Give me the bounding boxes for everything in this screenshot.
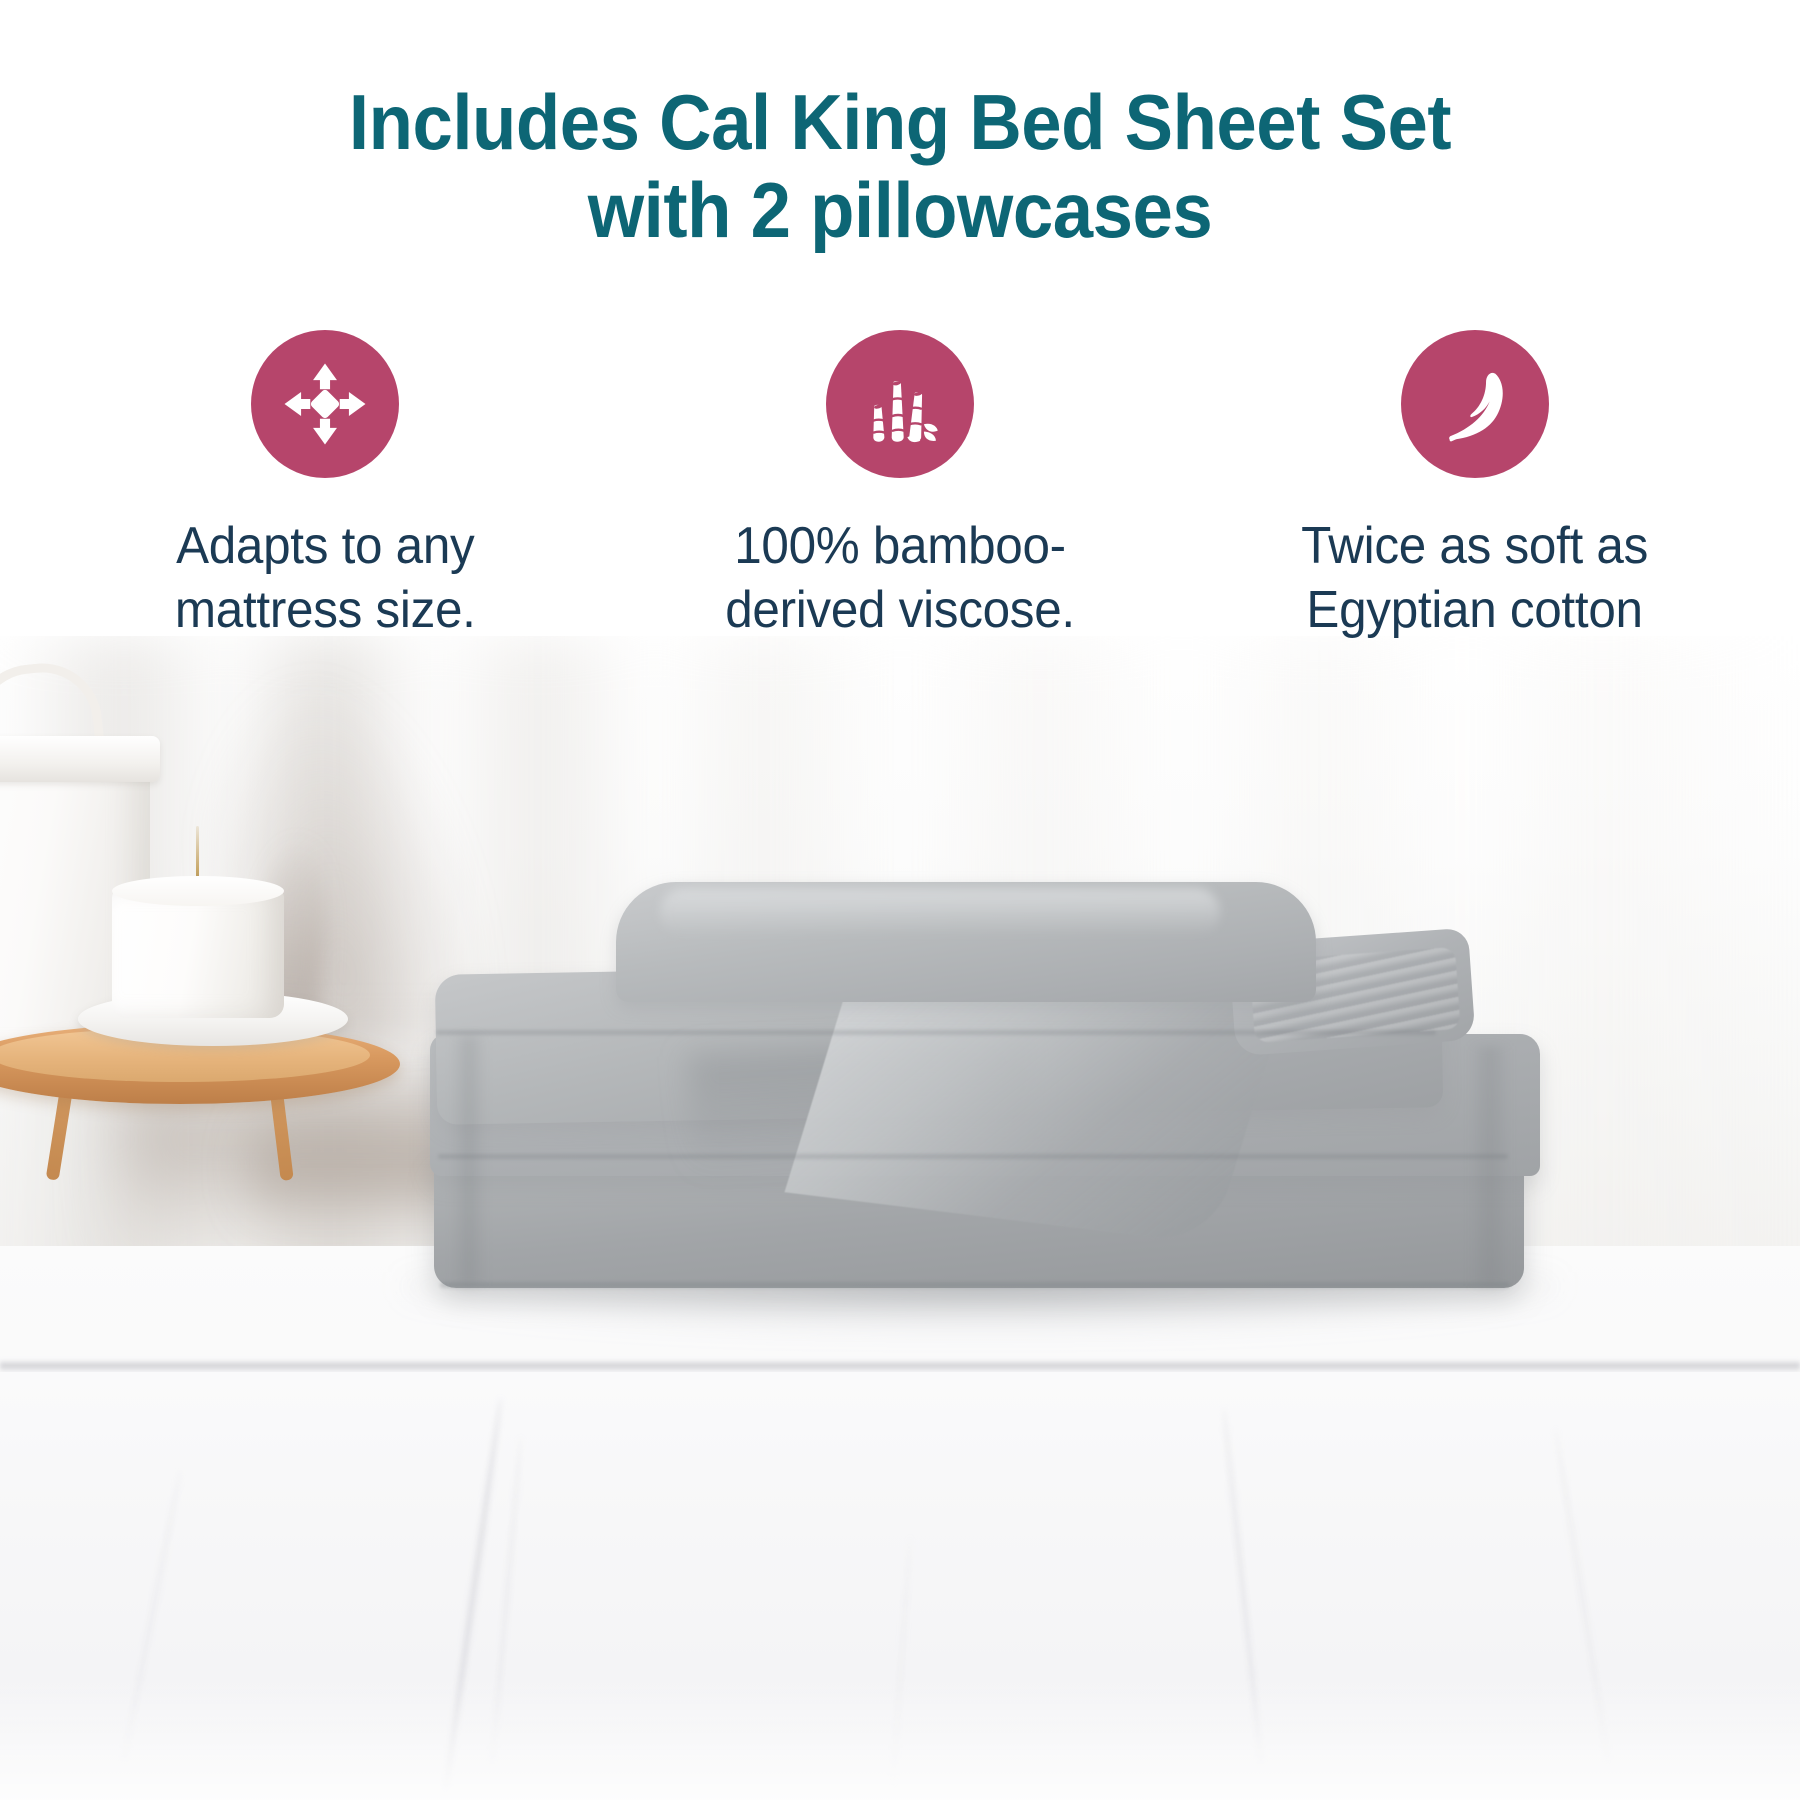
feature-caption-2-line-1: 100% bamboo- xyxy=(725,514,1075,578)
move-arrows-icon xyxy=(279,358,371,450)
fold-seam xyxy=(436,1030,1436,1035)
feature-row: Adapts to any mattress size. xyxy=(90,330,1710,642)
feature-caption-3: Twice as soft as Egyptian cotton xyxy=(1302,514,1649,642)
feature-caption-3-line-1: Twice as soft as xyxy=(1302,514,1649,578)
feature-badge-2 xyxy=(826,330,974,478)
feature-caption-1-line-1: Adapts to any xyxy=(175,514,476,578)
product-photo xyxy=(0,636,1800,1800)
bottom-light-wash xyxy=(0,1676,1800,1800)
feature-caption-2-line-2: derived viscose. xyxy=(725,578,1075,642)
fold-seam xyxy=(440,1282,1510,1288)
bamboo-icon xyxy=(854,358,946,450)
feature-caption-3-line-2: Egyptian cotton xyxy=(1302,578,1649,642)
headline-line-2: with 2 pillowcases xyxy=(63,166,1737,254)
top-sheet-highlight xyxy=(660,888,1220,936)
product-infographic: Includes Cal King Bed Sheet Set with 2 p… xyxy=(0,0,1800,1800)
stack-side-crease xyxy=(1470,1046,1510,1286)
fold-seam xyxy=(438,1154,1508,1159)
feather-icon xyxy=(1429,358,1521,450)
feature-caption-1-line-2: mattress size. xyxy=(175,578,476,642)
feature-badge-1 xyxy=(251,330,399,478)
feature-adapts-to-any-mattress-size: Adapts to any mattress size. xyxy=(90,330,560,642)
headline-line-1: Includes Cal King Bed Sheet Set xyxy=(63,78,1737,166)
feature-caption-2: 100% bamboo- derived viscose. xyxy=(725,514,1075,642)
feature-caption-1: Adapts to any mattress size. xyxy=(175,514,476,642)
stack-side-crease xyxy=(452,1036,486,1286)
sheet-stack xyxy=(0,636,1800,1800)
feature-badge-3 xyxy=(1401,330,1549,478)
headline: Includes Cal King Bed Sheet Set with 2 p… xyxy=(0,78,1800,254)
feature-bamboo-derived-viscose: 100% bamboo- derived viscose. xyxy=(665,330,1135,642)
feature-twice-as-soft: Twice as soft as Egyptian cotton xyxy=(1240,330,1710,642)
